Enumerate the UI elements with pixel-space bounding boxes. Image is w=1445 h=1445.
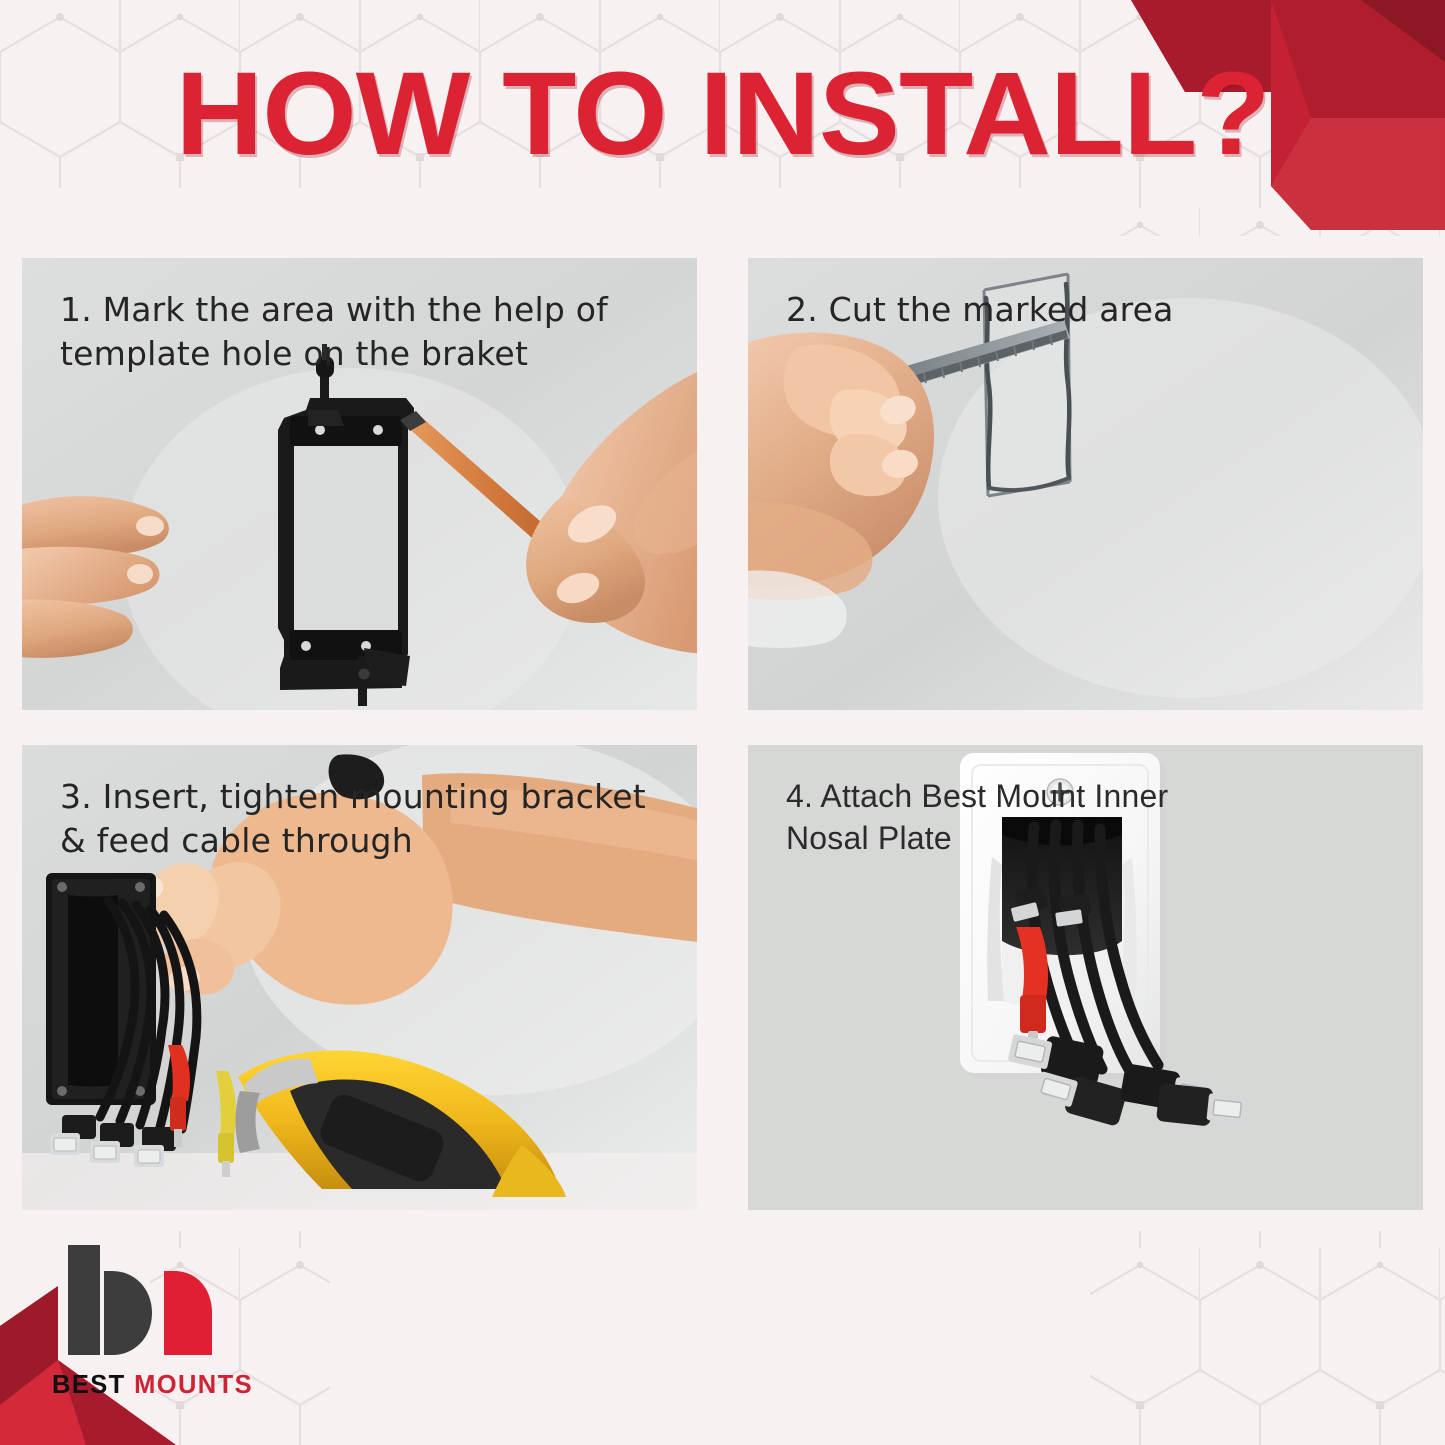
step-panel-4: 4. Attach Best Mount Inner Nosal Plate [748, 745, 1423, 1210]
bn-monogram-icon [52, 1245, 227, 1357]
page-title: HOW TO INSTALL? [0, 55, 1445, 173]
step-2-caption: 2. Cut the marked area [786, 288, 1403, 332]
steps-grid: 1. Mark the area with the help of templa… [22, 258, 1423, 1210]
logo-word-best: BEST [52, 1371, 126, 1399]
step-3-caption: 3. Insert, tighten mounting bracket & fe… [60, 775, 677, 862]
step-1-caption: 1. Mark the area with the help of templa… [60, 288, 677, 375]
step-4-caption: 4. Attach Best Mount Inner Nosal Plate [786, 775, 1403, 859]
logo-word-mounts: MOUNTS [134, 1371, 253, 1399]
step-panel-3: 3. Insert, tighten mounting bracket & fe… [22, 745, 697, 1210]
logo-mark [52, 1245, 227, 1357]
step-panel-1: 1. Mark the area with the help of templa… [22, 258, 697, 710]
step-panel-2: 2. Cut the marked area [748, 258, 1423, 710]
brand-logo: BEST MOUNTS [52, 1245, 282, 1410]
logo-wordmark: BEST MOUNTS [52, 1371, 282, 1400]
infographic-page: HOW TO INSTALL? [0, 0, 1445, 1445]
